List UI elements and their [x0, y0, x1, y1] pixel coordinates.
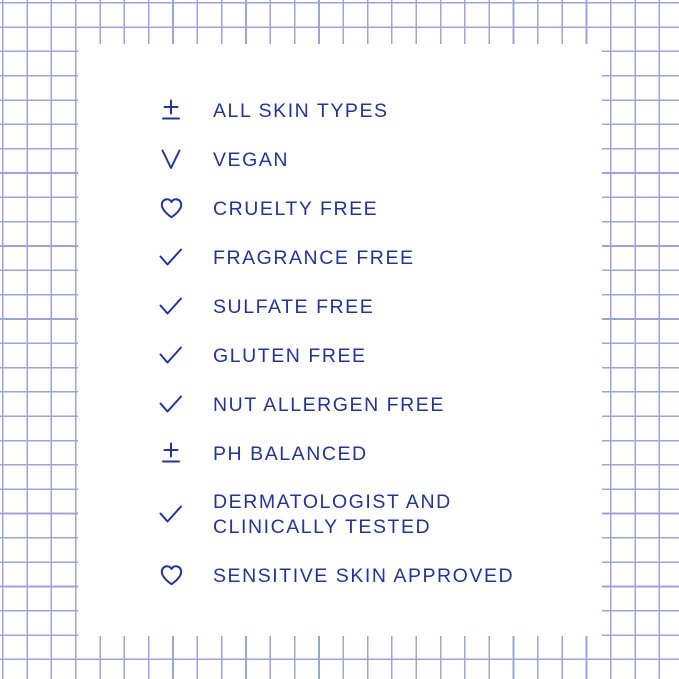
checkmark-icon [154, 293, 188, 319]
checkmark-icon [154, 342, 188, 368]
heart-outline-icon [154, 195, 188, 221]
plus-minus-icon [154, 97, 188, 123]
checkmark-icon [154, 501, 188, 527]
benefit-label: DERMATOLOGIST AND CLINICALLY TESTED [213, 490, 452, 540]
checkmark-icon [154, 391, 188, 417]
benefit-label: SENSITIVE SKIN APPROVED [213, 564, 514, 589]
checkmark-icon [154, 244, 188, 270]
benefit-label: NUT ALLERGEN FREE [213, 393, 445, 418]
plus-minus-icon [154, 440, 188, 466]
benefit-label: PH BALANCED [213, 442, 368, 467]
benefits-list: ALL SKIN TYPESVEGANCRUELTY FREEFRAGRANCE… [78, 44, 602, 636]
benefit-label: SULFATE FREE [213, 295, 374, 320]
benefit-label: ALL SKIN TYPES [213, 99, 389, 124]
benefit-label: CRUELTY FREE [213, 197, 378, 222]
heart-outline-icon [154, 562, 188, 588]
vegan-v-icon [154, 146, 188, 172]
benefit-label: GLUTEN FREE [213, 344, 367, 369]
benefit-label: FRAGRANCE FREE [213, 246, 415, 271]
benefit-label: VEGAN [213, 148, 289, 173]
benefits-graphic: ALL SKIN TYPESVEGANCRUELTY FREEFRAGRANCE… [0, 0, 679, 679]
benefits-card: ALL SKIN TYPESVEGANCRUELTY FREEFRAGRANCE… [78, 44, 602, 636]
